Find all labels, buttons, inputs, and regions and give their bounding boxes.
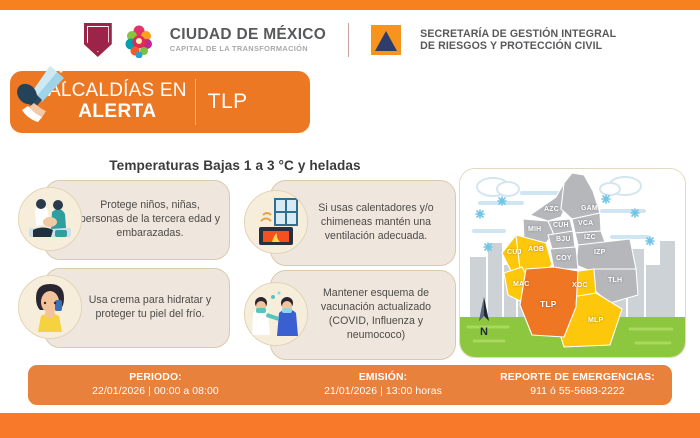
footer-emision-label: EMISIÓN: xyxy=(283,371,483,385)
tip-card-4: Mantener esquema de vacunación actualiza… xyxy=(244,270,454,358)
headline-temperature: Temperaturas Bajas 1 a 3 °C y heladas xyxy=(20,158,450,173)
tips-group: Protege niños, niñas, personas de la ter… xyxy=(18,180,456,358)
footer-emergencias: REPORTE DE EMERGENCIAS: 911 ó 55-5683-22… xyxy=(483,371,672,399)
bottom-accent-bar xyxy=(0,413,700,438)
tip-card-3: Usa crema para hidratar y proteger tu pi… xyxy=(18,268,228,346)
cdmx-coat-of-arms-icon xyxy=(84,23,112,57)
orange-triangle-icon xyxy=(371,25,401,55)
footer-info-bar: PERIODO: 22/01/2026 | 00:00 a 08:00 EMIS… xyxy=(28,365,672,405)
svg-text:N: N xyxy=(480,326,488,338)
cdmx-wordmark: CIUDAD DE MÉXICO CAPITAL DE LA TRANSFORM… xyxy=(170,27,326,52)
footer-periodo-label: PERIODO: xyxy=(28,371,283,385)
agency-line-2: DE RIESGOS Y PROTECCIÓN CIVIL xyxy=(420,40,616,53)
skin-cream-icon xyxy=(18,275,82,339)
tip-card-1: Protege niños, niñas, personas de la ter… xyxy=(18,180,228,258)
agency-line-1: SECRETARÍA DE GESTIÓN INTEGRAL xyxy=(420,28,616,41)
banner-borough-code: TLP xyxy=(208,90,248,114)
cdmx-title: CIUDAD DE MÉXICO xyxy=(170,27,326,43)
agency-wordmark: SECRETARÍA DE GESTIÓN INTEGRAL DE RIESGO… xyxy=(420,28,616,53)
megaphone-icon xyxy=(6,62,70,124)
header: CIUDAD DE MÉXICO CAPITAL DE LA TRANSFORM… xyxy=(0,14,700,66)
vaccination-icon xyxy=(244,282,308,346)
header-divider xyxy=(348,23,349,57)
footer-emergencias-value: 911 ó 55-5683-2222 xyxy=(483,385,672,399)
top-accent-bar xyxy=(0,0,700,10)
heater-window-ventilation-icon xyxy=(244,190,308,254)
footer-emision: EMISIÓN: 21/01/2026 | 13:00 horas xyxy=(283,371,483,399)
tip-card-2: Si usas calentadores y/o chimeneas manté… xyxy=(244,180,454,264)
floral-emblem-icon xyxy=(122,22,156,58)
footer-emergencias-label: REPORTE DE EMERGENCIAS: xyxy=(483,371,672,385)
footer-periodo-value: 22/01/2026 | 00:00 a 08:00 xyxy=(28,385,283,399)
map-illustration: N xyxy=(460,169,685,357)
cdmx-subtitle: CAPITAL DE LA TRANSFORMACIÓN xyxy=(170,45,326,53)
footer-emision-value: 21/01/2026 | 13:00 horas xyxy=(283,385,483,399)
banner-divider xyxy=(195,79,196,125)
alert-map: N AZC GAM MIH CUH VCA IZC BJU IZP COY TL… xyxy=(459,168,686,358)
footer-periodo: PERIODO: 22/01/2026 | 00:00 a 08:00 xyxy=(28,371,283,399)
infographic-page: CIUDAD DE MÉXICO CAPITAL DE LA TRANSFORM… xyxy=(0,0,700,438)
family-protection-icon xyxy=(18,187,82,251)
